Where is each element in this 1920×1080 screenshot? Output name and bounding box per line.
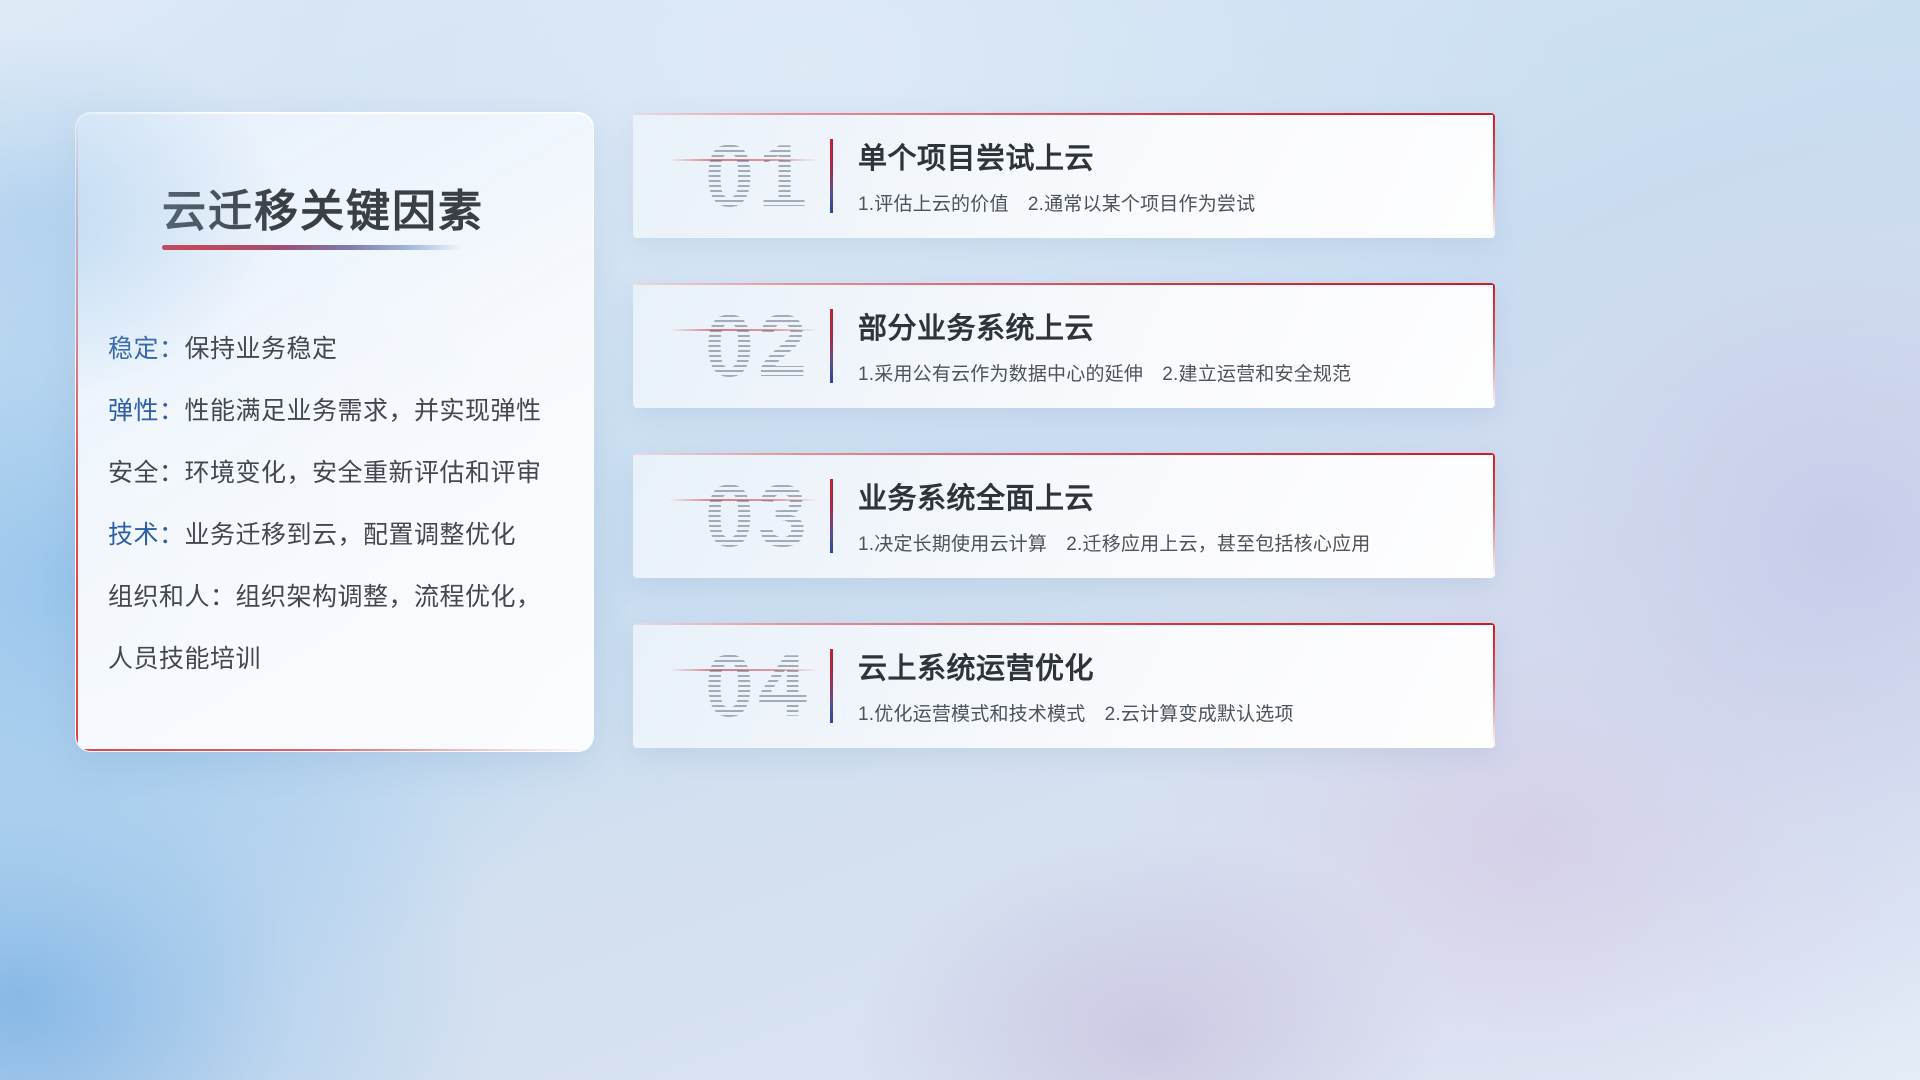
key-factor-item: 安全：环境变化，安全重新评估和评审 [108, 442, 573, 504]
key-factor-item: 弹性：性能满足业务需求，并实现弹性 [108, 380, 573, 442]
stage-description: 1.决定长期使用云计算 2.迁移应用上云，甚至包括核心应用 [858, 529, 1371, 556]
page-title: 云迁移关键因素 [162, 175, 484, 239]
key-factor-item: 技术：业务迁移到云，配置调整优化 [108, 504, 573, 566]
key-factor-text: 保持业务稳定 [185, 335, 338, 363]
key-factor-text: 业务迁移到云，配置调整优化 [185, 521, 517, 549]
stage-number-decoration: 01 [669, 113, 869, 238]
stage-description: 1.优化运营模式和技术模式 2.云计算变成默认选项 [858, 699, 1294, 726]
stage-number-decoration: 04 [669, 623, 869, 748]
stage-divider-bar [830, 649, 833, 723]
key-factor-label: 安全： [108, 459, 185, 487]
stage-title: 业务系统全面上云 [858, 475, 1094, 517]
key-factor-text: 性能满足业务需求，并实现弹性 [185, 397, 542, 425]
migration-stage-card[interactable]: 03业务系统全面上云1.决定长期使用云计算 2.迁移应用上云，甚至包括核心应用 [633, 453, 1495, 578]
slide-canvas: 云迁移关键因素 稳定：保持业务稳定弹性：性能满足业务需求，并实现弹性安全：环境变… [0, 0, 1920, 1080]
stage-divider-bar [830, 139, 833, 213]
key-factor-item: 稳定：保持业务稳定 [108, 318, 573, 380]
migration-stage-card[interactable]: 02部分业务系统上云1.采用公有云作为数据中心的延伸 2.建立运营和安全规范 [633, 283, 1495, 408]
stage-title: 单个项目尝试上云 [858, 135, 1094, 177]
key-factor-label: 弹性： [108, 397, 185, 425]
stage-description: 1.评估上云的价值 2.通常以某个项目作为尝试 [858, 189, 1255, 216]
key-factor-item: 组织和人：组织架构调整，流程优化， [108, 566, 573, 628]
stage-number-decoration: 02 [669, 283, 869, 408]
key-factor-label: 组织和人： [108, 583, 236, 611]
stage-divider-bar [830, 479, 833, 553]
stage-number-decoration: 03 [669, 453, 869, 578]
key-factor-text: 环境变化，安全重新评估和评审 [185, 459, 542, 487]
stage-description: 1.采用公有云作为数据中心的延伸 2.建立运营和安全规范 [858, 359, 1351, 386]
key-factors-card: 云迁移关键因素 稳定：保持业务稳定弹性：性能满足业务需求，并实现弹性安全：环境变… [75, 112, 594, 752]
migration-stages-list: 01单个项目尝试上云1.评估上云的价值 2.通常以某个项目作为尝试02部分业务系… [633, 113, 1495, 793]
key-factor-label: 技术： [108, 521, 185, 549]
migration-stage-card[interactable]: 04云上系统运营优化1.优化运营模式和技术模式 2.云计算变成默认选项 [633, 623, 1495, 748]
key-factor-text: 人员技能培训 [108, 645, 261, 673]
title-underline-accent [162, 245, 462, 250]
key-factors-list: 稳定：保持业务稳定弹性：性能满足业务需求，并实现弹性安全：环境变化，安全重新评估… [108, 318, 573, 690]
stage-divider-bar [830, 309, 833, 383]
stage-title: 云上系统运营优化 [858, 645, 1094, 687]
stage-title: 部分业务系统上云 [858, 305, 1094, 347]
migration-stage-card[interactable]: 01单个项目尝试上云1.评估上云的价值 2.通常以某个项目作为尝试 [633, 113, 1495, 238]
key-factor-text: 组织架构调整，流程优化， [236, 583, 542, 611]
key-factor-item: 人员技能培训 [108, 628, 573, 690]
key-factor-label: 稳定： [108, 335, 185, 363]
